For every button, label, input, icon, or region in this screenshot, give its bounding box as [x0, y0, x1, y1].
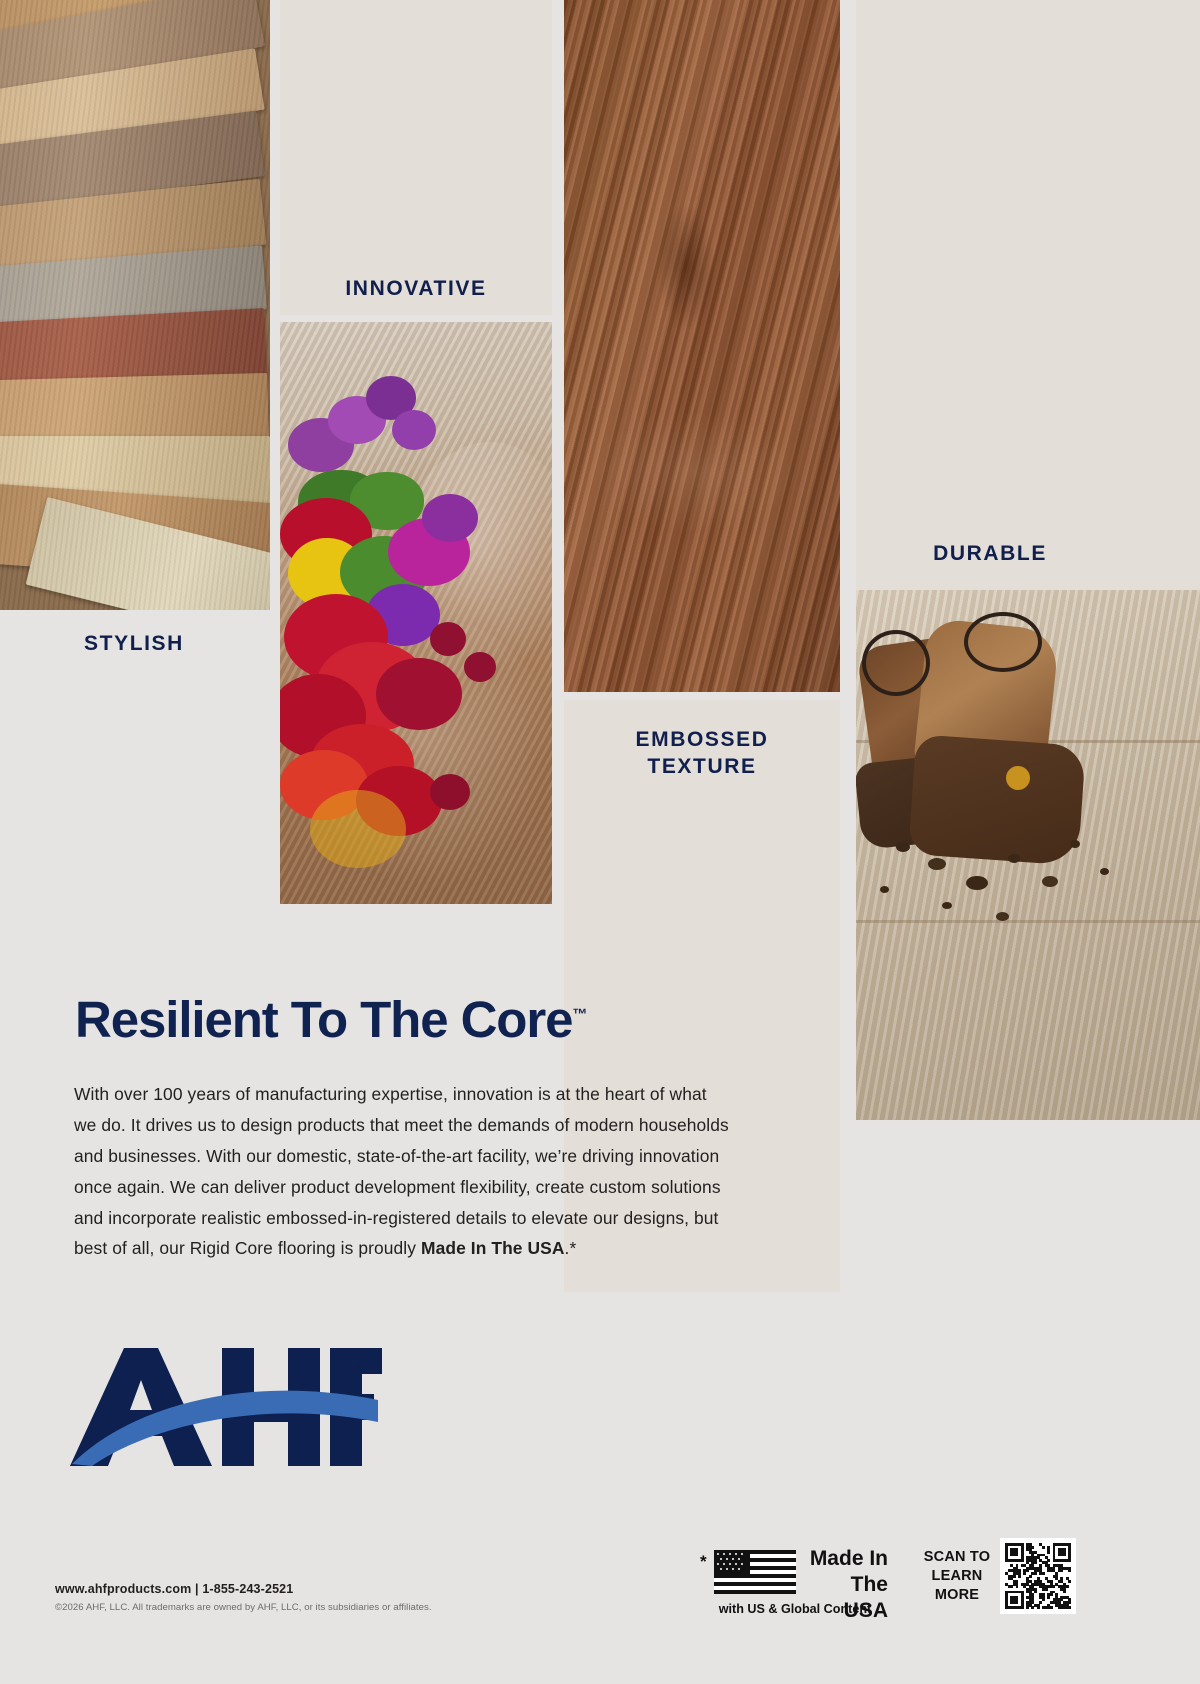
- registered-mark: ®: [350, 1354, 360, 1369]
- label-embossed-line1: EMBOSSED: [564, 726, 840, 753]
- label-stylish: STYLISH: [0, 630, 268, 657]
- qr-code-pattern: [1005, 1543, 1071, 1609]
- made-in-usa-subtext: with US & Global Content: [700, 1602, 890, 1616]
- photo-embossed-texture: [564, 0, 840, 692]
- footer-contact[interactable]: www.ahfproducts.com | 1-855-243-2521: [55, 1582, 293, 1596]
- body-text-tail: .*: [565, 1238, 577, 1258]
- poster-canvas: STYLISH INNOVATIVE EMBOSSED TEXTURE DURA…: [0, 0, 1200, 1684]
- scan-line3: MORE: [918, 1586, 996, 1605]
- qr-code[interactable]: [1000, 1538, 1076, 1614]
- made-in-usa-line2: The USA: [804, 1572, 888, 1624]
- flag-canton: [714, 1550, 750, 1574]
- panel-innovative: [280, 0, 552, 315]
- photo-flowers-water: [280, 322, 552, 904]
- us-flag-icon: [714, 1550, 796, 1594]
- label-durable: DURABLE: [856, 540, 1124, 567]
- scan-to-learn-more-label: SCAN TO LEARN MORE: [918, 1548, 996, 1605]
- made-in-usa-badge: * Made In The USA: [700, 1546, 890, 1612]
- footer-copyright: ©2026 AHF, LLC. All trademarks are owned…: [55, 1602, 432, 1613]
- photo-plank-samples: [0, 0, 270, 610]
- panel-durable: [856, 0, 1200, 590]
- body-text-bold: Made In The USA: [421, 1238, 565, 1258]
- footnote-asterisk: *: [700, 1552, 707, 1572]
- ahf-logo-mark: [62, 1348, 382, 1466]
- ahf-logo: ®: [62, 1348, 382, 1466]
- scan-line1: SCAN TO: [918, 1548, 996, 1567]
- plank-grain-overlay: [0, 0, 270, 610]
- photo-boots: [856, 590, 1200, 1120]
- trademark-mark: ™: [572, 1006, 587, 1023]
- body-paragraph: With over 100 years of manufacturing exp…: [74, 1079, 734, 1264]
- label-innovative: INNOVATIVE: [280, 275, 552, 302]
- label-embossed-line2: TEXTURE: [564, 753, 840, 780]
- scan-line2: LEARN: [918, 1567, 996, 1586]
- made-in-usa-line1: Made In: [804, 1546, 888, 1572]
- label-embossed-texture: EMBOSSED TEXTURE: [564, 726, 840, 780]
- page-title: Resilient To The Core™: [75, 990, 587, 1049]
- body-text-plain: With over 100 years of manufacturing exp…: [74, 1084, 729, 1258]
- page-title-text: Resilient To The Core: [75, 991, 572, 1048]
- embossed-grain: [564, 0, 840, 692]
